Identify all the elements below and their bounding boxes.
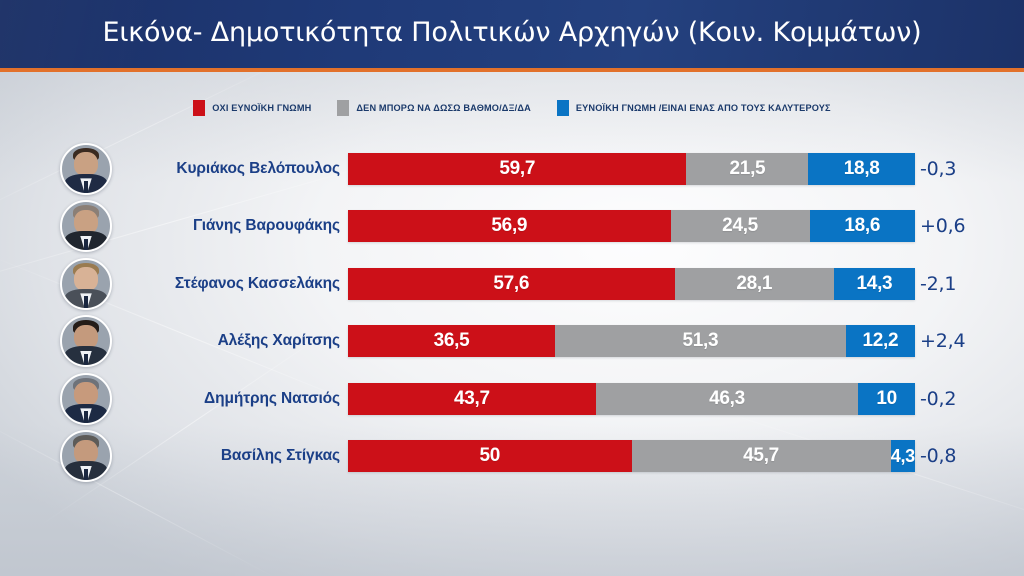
bar-value-negative: 57,6 xyxy=(493,273,529,295)
avatar-tie xyxy=(84,354,89,366)
bar-segment-dontknow: 46,3 xyxy=(596,383,859,415)
bar-value-dontknow: 46,3 xyxy=(709,388,745,410)
legend-label: ΕΥΝΟΪΚΗ ΓΝΩΜΗ /ΕΙΝΑΙ ΕΝΑΣ ΑΠΟ ΤΟΥΣ ΚΑΛΥΤ… xyxy=(576,103,831,113)
row-label-name: Κυριάκος Βελόπουλος xyxy=(120,160,340,178)
row-delta-value: +2,4 xyxy=(920,330,965,352)
avatar-dimitris-natsios xyxy=(60,373,112,425)
avatar-face xyxy=(62,375,110,423)
avatar-tie xyxy=(84,469,89,481)
bar-segment-dontknow: 24,5 xyxy=(671,210,810,242)
legend-item-dontknow: ΔΕΝ ΜΠΟΡΩ ΝΑ ΔΩΣΩ ΒΑΘΜΟ/ΔΞ/ΔΑ xyxy=(337,100,530,116)
bar-segment-positive: 12,2 xyxy=(846,325,915,357)
bar-value-negative: 36,5 xyxy=(434,330,470,352)
row-label-name: Στέφανος Κασσελάκης xyxy=(120,275,340,293)
bar-value-positive: 12,2 xyxy=(863,330,899,352)
bar-segment-positive: 18,8 xyxy=(808,153,915,185)
bar-value-positive: 18,8 xyxy=(844,158,880,180)
avatar-vasilis-stigkas xyxy=(60,430,112,482)
chart-row: Δημήτρης Νατσιός43,746,310-0,2 xyxy=(0,370,1024,428)
bar-segment-dontknow: 21,5 xyxy=(686,153,808,185)
chart-row: Αλέξης Χαρίτσης36,551,312,2+2,4 xyxy=(0,313,1024,371)
bar-value-negative: 56,9 xyxy=(491,215,527,237)
avatar-face xyxy=(62,317,110,365)
bar-value-dontknow: 24,5 xyxy=(722,215,758,237)
chart-rows: Κυριάκος Βελόπουλος59,721,518,8-0,3Γιάνη… xyxy=(0,140,1024,485)
avatar-tie xyxy=(84,296,89,308)
bar-segment-dontknow: 45,7 xyxy=(632,440,891,472)
avatar-kyriakos-velopoulos xyxy=(60,143,112,195)
stacked-bar: 57,628,114,3 xyxy=(348,268,915,300)
bar-segment-negative: 43,7 xyxy=(348,383,596,415)
avatar-face xyxy=(62,202,110,250)
bar-value-positive: 18,6 xyxy=(844,215,880,237)
stacked-bar: 56,924,518,6 xyxy=(348,210,915,242)
bar-segment-negative: 57,6 xyxy=(348,268,675,300)
page-title: Εικόνα- Δημοτικότητα Πολιτικών Αρχηγών (… xyxy=(0,17,1024,48)
chart-row: Στέφανος Κασσελάκης57,628,114,3-2,1 xyxy=(0,255,1024,313)
bar-value-negative: 59,7 xyxy=(499,158,535,180)
legend-label: ΔΕΝ ΜΠΟΡΩ ΝΑ ΔΩΣΩ ΒΑΘΜΟ/ΔΞ/ΔΑ xyxy=(356,103,530,113)
avatar-tie xyxy=(84,239,89,251)
legend-swatch-positive-icon xyxy=(557,100,569,116)
row-label-name: Βασίλης Στίγκας xyxy=(120,447,340,465)
avatar-tie xyxy=(84,181,89,193)
stacked-bar: 59,721,518,8 xyxy=(348,153,915,185)
row-label-name: Δημήτρης Νατσιός xyxy=(120,390,340,408)
bar-segment-positive: 4,3 xyxy=(891,440,915,472)
bar-value-dontknow: 21,5 xyxy=(730,158,766,180)
bar-value-positive: 14,3 xyxy=(857,273,893,295)
stacked-bar: 36,551,312,2 xyxy=(348,325,915,357)
avatar-face xyxy=(62,145,110,193)
legend-item-negative: ΟΧΙ ΕΥΝΟΪΚΗ ΓΝΩΜΗ xyxy=(193,100,311,116)
chart-row: Βασίλης Στίγκας5045,74,3-0,8 xyxy=(0,428,1024,486)
avatar-gianis-varoufakis xyxy=(60,200,112,252)
row-delta-value: -0,3 xyxy=(920,158,956,180)
avatar-alexis-charitsis xyxy=(60,315,112,367)
poll-chart-slide: Εικόνα- Δημοτικότητα Πολιτικών Αρχηγών (… xyxy=(0,0,1024,576)
bar-segment-positive: 14,3 xyxy=(834,268,915,300)
bar-segment-dontknow: 28,1 xyxy=(675,268,834,300)
row-delta-value: -2,1 xyxy=(920,273,956,295)
avatar-stefanos-kasselakis xyxy=(60,258,112,310)
legend-swatch-dontknow-icon xyxy=(337,100,349,116)
stacked-bar: 43,746,310 xyxy=(348,383,915,415)
bar-segment-negative: 56,9 xyxy=(348,210,671,242)
row-delta-value: +0,6 xyxy=(920,215,965,237)
avatar-face xyxy=(62,432,110,480)
slide-header: Εικόνα- Δημοτικότητα Πολιτικών Αρχηγών (… xyxy=(0,0,1024,68)
row-label-name: Γιάνης Βαρουφάκης xyxy=(120,217,340,235)
bar-value-dontknow: 45,7 xyxy=(743,445,779,467)
bar-value-positive: 10 xyxy=(876,388,897,410)
legend-label: ΟΧΙ ΕΥΝΟΪΚΗ ΓΝΩΜΗ xyxy=(212,103,311,113)
bar-segment-negative: 50 xyxy=(348,440,632,472)
avatar-tie xyxy=(84,411,89,423)
chart-row: Κυριάκος Βελόπουλος59,721,518,8-0,3 xyxy=(0,140,1024,198)
legend-swatch-negative-icon xyxy=(193,100,205,116)
row-delta-value: -0,2 xyxy=(920,388,956,410)
avatar-face xyxy=(62,260,110,308)
legend-item-positive: ΕΥΝΟΪΚΗ ΓΝΩΜΗ /ΕΙΝΑΙ ΕΝΑΣ ΑΠΟ ΤΟΥΣ ΚΑΛΥΤ… xyxy=(557,100,831,116)
bar-segment-dontknow: 51,3 xyxy=(555,325,846,357)
row-label-name: Αλέξης Χαρίτσης xyxy=(120,332,340,350)
bar-value-dontknow: 51,3 xyxy=(682,330,718,352)
row-delta-value: -0,8 xyxy=(920,445,956,467)
bar-value-negative: 43,7 xyxy=(454,388,490,410)
stacked-bar: 5045,74,3 xyxy=(348,440,915,472)
bar-value-positive: 4,3 xyxy=(891,446,915,467)
bar-segment-positive: 18,6 xyxy=(810,210,915,242)
bar-segment-positive: 10 xyxy=(858,383,915,415)
bar-segment-negative: 59,7 xyxy=(348,153,686,185)
bar-value-negative: 50 xyxy=(479,445,500,467)
bar-segment-negative: 36,5 xyxy=(348,325,555,357)
bar-value-dontknow: 28,1 xyxy=(736,273,772,295)
chart-row: Γιάνης Βαρουφάκης56,924,518,6+0,6 xyxy=(0,198,1024,256)
chart-legend: ΟΧΙ ΕΥΝΟΪΚΗ ΓΝΩΜΗΔΕΝ ΜΠΟΡΩ ΝΑ ΔΩΣΩ ΒΑΘΜΟ… xyxy=(0,100,1024,116)
